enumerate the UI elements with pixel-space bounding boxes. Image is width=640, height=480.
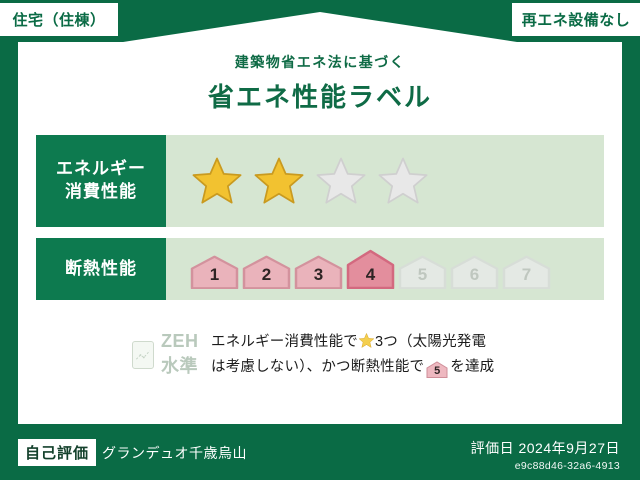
insulation-level-number: 7 <box>522 265 531 289</box>
insulation-level-1: 1 <box>190 255 239 289</box>
zeh-desc-text-a: エネルギー消費性能で <box>211 334 358 350</box>
star-icon <box>358 332 375 349</box>
insulation-level-3: 3 <box>294 255 343 289</box>
building-name: グランデュオ千歳烏山 <box>102 443 247 463</box>
energy-performance-panel: エネルギー 消費性能 <box>36 135 604 227</box>
insulation-level-5: 5 <box>398 255 447 289</box>
insulation-level-2: 2 <box>242 255 291 289</box>
evaluation-date: 評価日 2024年9月27日 <box>471 438 620 458</box>
star-icon-empty <box>376 155 430 207</box>
insulation-level-7: 7 <box>502 255 551 289</box>
star-icon-empty <box>314 155 368 207</box>
zeh-description-line2: は考慮しない）、かつ断熱性能で5を達成 <box>211 355 494 380</box>
insulation-level-number: 5 <box>418 265 427 289</box>
star-rating <box>190 155 430 207</box>
energy-performance-label: 住宅（住棟） 再エネ設備なし 建築物省エネ法に基づく 省エネ性能ラベル エネルギ… <box>0 0 640 480</box>
star-icon-filled <box>190 155 244 207</box>
insulation-level-number: 1 <box>210 265 219 289</box>
energy-rating-body <box>166 155 604 207</box>
left-green-border <box>0 0 18 480</box>
evaluation-type-chip: 自己評価 <box>18 439 96 466</box>
renewable-equipment-chip: 再エネ設備なし <box>512 3 640 36</box>
title-block: 建築物省エネ法に基づく 省エネ性能ラベル <box>18 52 622 114</box>
insulation-level-5-inline-icon: 5 <box>426 361 448 378</box>
right-green-border <box>622 0 640 480</box>
title-subtitle: 建築物省エネ法に基づく <box>18 52 622 72</box>
building-type-chip: 住宅（住棟） <box>0 3 118 36</box>
zeh-row: ZEH水準 エネルギー消費性能で3つ（太陽光発電 は考慮しない）、かつ断熱性能で… <box>36 330 604 379</box>
inline-badge-number: 5 <box>426 361 448 381</box>
insulation-level-6: 6 <box>450 255 499 289</box>
insulation-tag-label: 断熱性能 <box>65 258 137 281</box>
label-id: e9c88d46-32a6-4913 <box>471 460 620 472</box>
zeh-mark-icon <box>132 341 154 369</box>
evaluation-date-label: 評価日 <box>471 440 515 456</box>
energy-tag-line2: 消費性能 <box>65 181 137 204</box>
insulation-performance-tag: 断熱性能 <box>36 238 166 300</box>
insulation-level-number: 6 <box>470 265 479 289</box>
energy-performance-tag: エネルギー 消費性能 <box>36 135 166 227</box>
page-title: 省エネ性能ラベル <box>18 77 622 114</box>
insulation-level-number: 3 <box>314 265 323 289</box>
insulation-level-4: 4 <box>346 249 395 289</box>
insulation-performance-panel: 断熱性能 1234567 <box>36 238 604 300</box>
insulation-rating-body: 1234567 <box>166 249 604 289</box>
zeh-desc-text-b: 3つ（太陽光発電 <box>375 334 486 350</box>
energy-tag-line1: エネルギー <box>56 158 146 181</box>
zeh-description: エネルギー消費性能で3つ（太陽光発電 は考慮しない）、かつ断熱性能で5を達成 <box>211 330 494 379</box>
zeh-mark: ZEH水準 <box>36 331 211 378</box>
zeh-desc-text-c: は考慮しない）、かつ断熱性能で <box>211 359 424 375</box>
zeh-label: ZEH水準 <box>161 331 211 378</box>
star-icon-filled <box>252 155 306 207</box>
zeh-description-line1: エネルギー消費性能で3つ（太陽光発電 <box>211 330 494 355</box>
footer-right: 評価日 2024年9月27日 e9c88d46-32a6-4913 <box>471 438 620 472</box>
insulation-level-number: 4 <box>366 265 375 289</box>
evaluation-date-value: 2024年9月27日 <box>518 440 620 456</box>
footer-left: 自己評価 グランデュオ千歳烏山 <box>18 439 247 466</box>
insulation-level-number: 2 <box>262 265 271 289</box>
insulation-level-scale: 1234567 <box>190 249 551 289</box>
zeh-desc-text-d: を達成 <box>450 359 494 375</box>
